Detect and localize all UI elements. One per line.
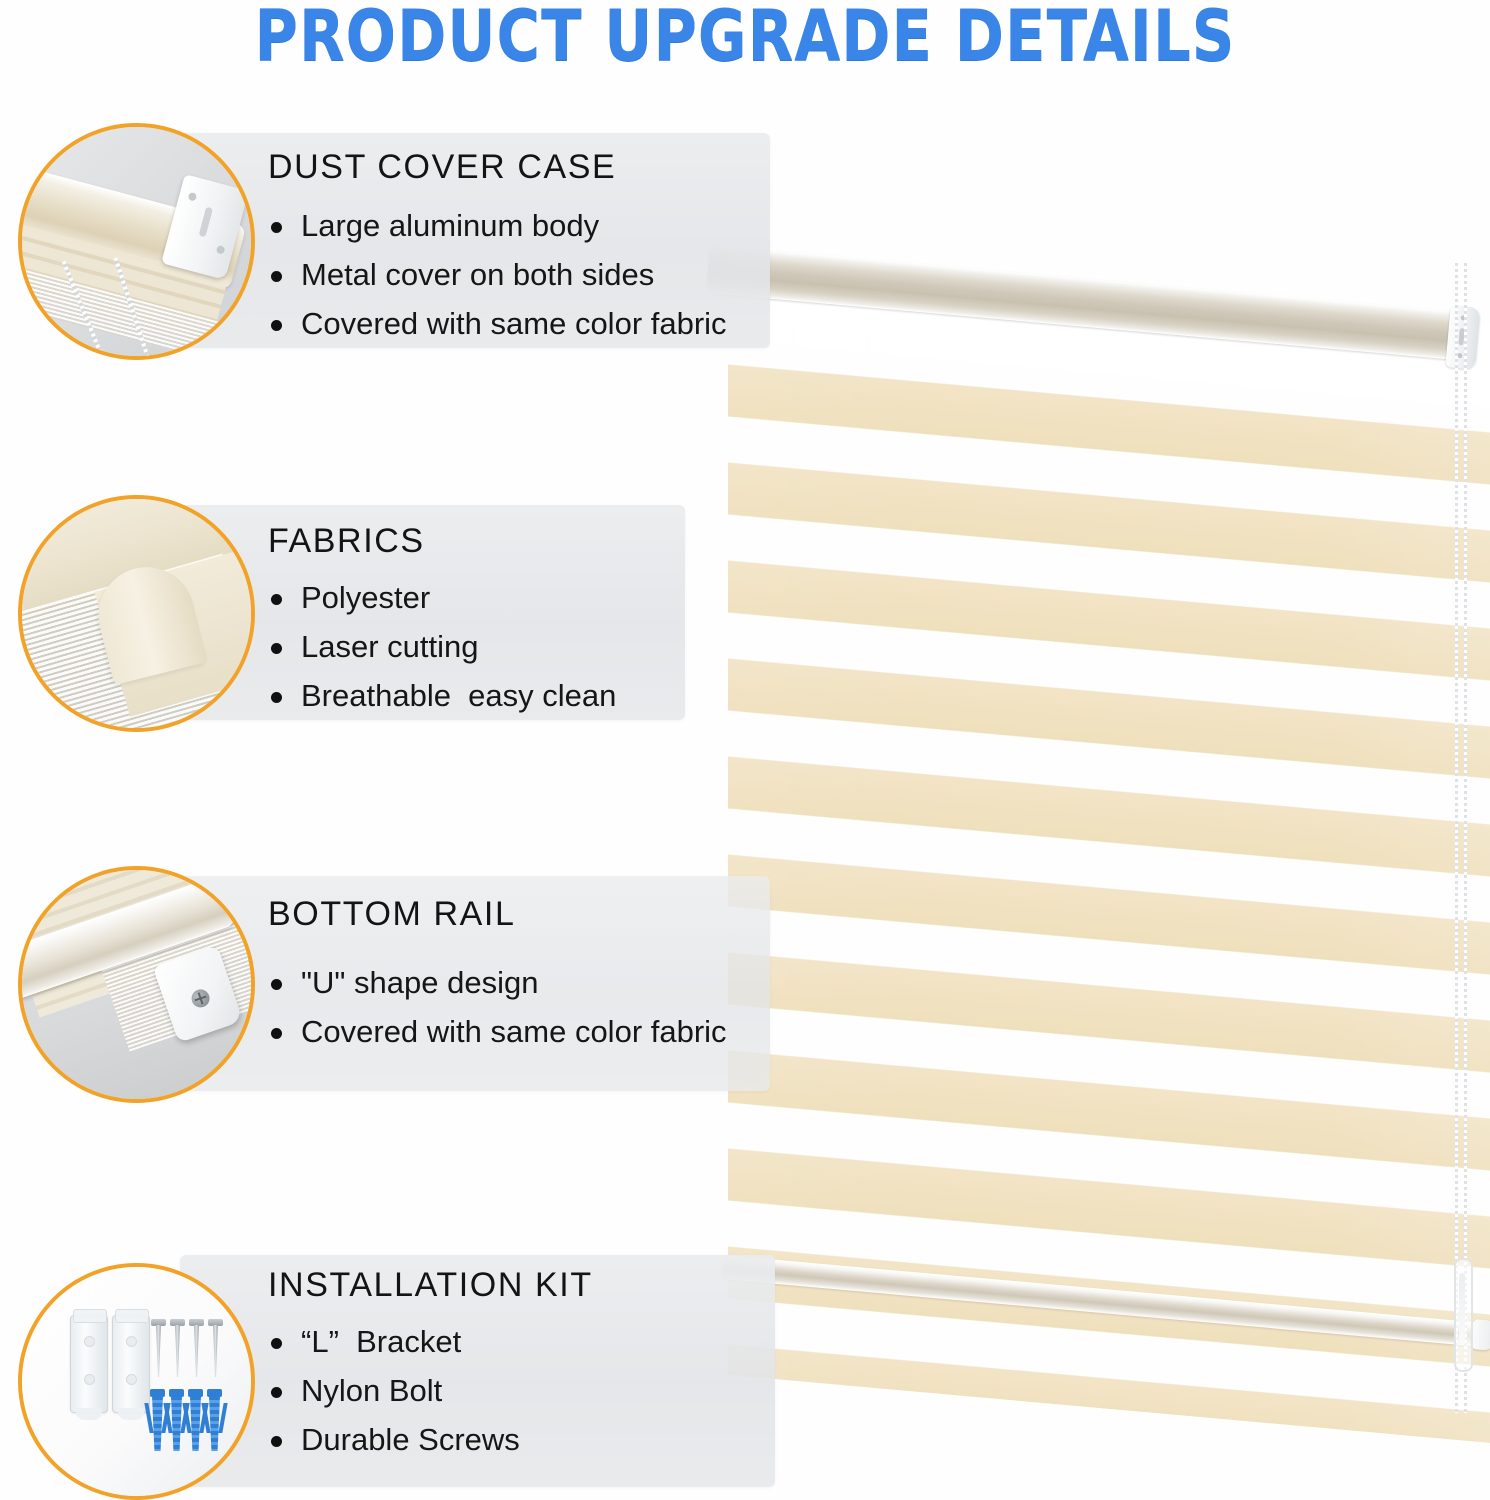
dust-cover-case-photo — [18, 123, 255, 360]
bullet-item: Covered with same color fabric — [268, 1007, 768, 1056]
feature-bullets: Large aluminum body Metal cover on both … — [268, 201, 768, 348]
bullet-item: Metal cover on both sides — [268, 250, 768, 299]
feature-bullets: Polyester Laser cutting Breathable easy … — [268, 573, 688, 720]
bullet-item: Durable Screws — [268, 1415, 768, 1464]
screw — [193, 1319, 200, 1377]
feature-heading: INSTALLATION KIT — [268, 1266, 593, 1305]
bullet-item: Laser cutting — [268, 622, 688, 671]
feature-bullets: "U" shape design Covered with same color… — [268, 958, 768, 1056]
bullet-item: "U" shape design — [268, 958, 768, 1007]
bead-chain-control — [1455, 263, 1469, 1453]
l-bracket — [70, 1315, 108, 1413]
screw — [212, 1319, 219, 1377]
installation-kit-photo — [18, 1263, 255, 1500]
feature-heading: FABRICS — [268, 522, 425, 561]
page-title: PRODUCT UPGRADE DETAILS — [0, 0, 1490, 77]
bullet-item: Covered with same color fabric — [268, 299, 768, 348]
nylon-bolt — [169, 1389, 184, 1451]
bullet-item: Breathable easy clean — [268, 671, 688, 720]
screw — [155, 1319, 162, 1377]
zebra-roller-blind-image — [700, 215, 1490, 1330]
feature-heading: BOTTOM RAIL — [268, 895, 515, 934]
bullet-item: Polyester — [268, 573, 688, 622]
screw — [174, 1319, 181, 1377]
bottom-rail-end-cap — [1471, 1319, 1490, 1351]
nylon-bolt — [188, 1389, 203, 1451]
l-bracket — [112, 1315, 150, 1413]
infographic-canvas: PRODUCT UPGRADE DETAILS — [0, 0, 1490, 1500]
bullet-item: Large aluminum body — [268, 201, 768, 250]
nylon-bolt — [150, 1389, 165, 1451]
nylon-bolt — [207, 1389, 222, 1451]
bullet-item: “L” Bracket — [268, 1317, 768, 1366]
bullet-item: Nylon Bolt — [268, 1366, 768, 1415]
feature-bullets: “L” Bracket Nylon Bolt Durable Screws — [268, 1317, 768, 1464]
fabric-closeup-photo — [18, 495, 255, 732]
bottom-rail-photo — [18, 866, 255, 1103]
feature-heading: DUST COVER CASE — [268, 148, 616, 187]
